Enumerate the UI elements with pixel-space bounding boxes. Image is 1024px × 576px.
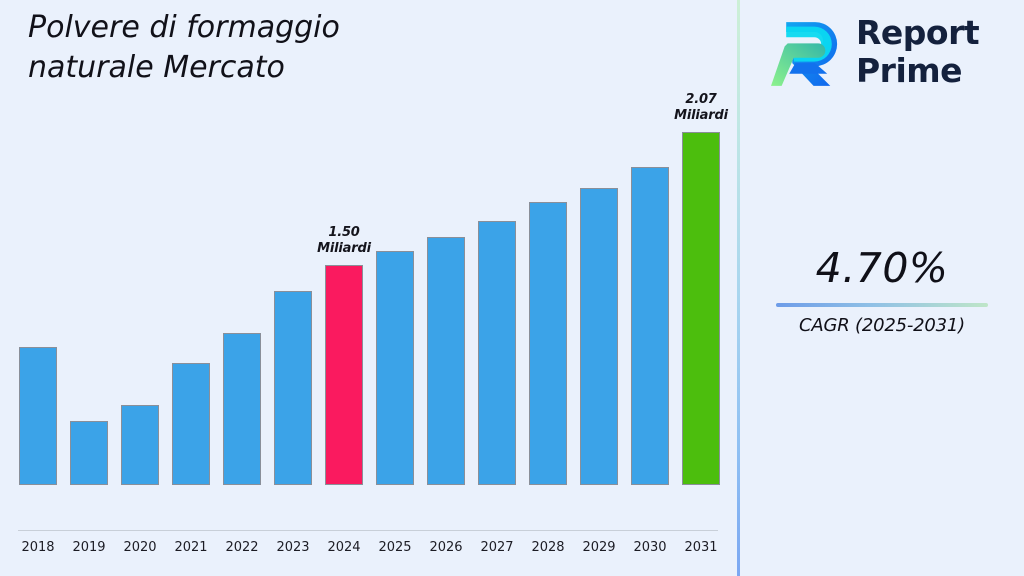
- bar-2027[interactable]: [478, 221, 516, 485]
- side-panel: Report Prime 4.70% CAGR (2025-2031): [740, 0, 1024, 576]
- x-tick-2018: 2018: [13, 540, 63, 555]
- x-tick-2019: 2019: [64, 540, 114, 555]
- bar-chart-plot: 1.50 Miliardi2.07 Miliardi: [0, 0, 738, 531]
- bar-2030[interactable]: [631, 167, 669, 485]
- report-prime-logo-icon: [770, 16, 848, 92]
- bar-value-label-2031: 2.07 Miliardi: [651, 92, 751, 125]
- brand-logo[interactable]: Report Prime: [770, 12, 1020, 98]
- x-tick-2029: 2029: [574, 540, 624, 555]
- x-tick-2023: 2023: [268, 540, 318, 555]
- cagr-label: CAGR (2025-2031): [740, 315, 1024, 336]
- bar-2025[interactable]: [376, 251, 414, 485]
- x-tick-2021: 2021: [166, 540, 216, 555]
- chart-panel: Polvere di formaggio naturale Mercato 1.…: [0, 0, 738, 576]
- bar-2019[interactable]: [70, 421, 108, 485]
- bar-2029[interactable]: [580, 188, 618, 485]
- bar-2022[interactable]: [223, 333, 261, 485]
- bar-2023[interactable]: [274, 291, 312, 485]
- x-tick-2026: 2026: [421, 540, 471, 555]
- brand-name: Report Prime: [856, 14, 979, 91]
- x-tick-2030: 2030: [625, 540, 675, 555]
- x-tick-2020: 2020: [115, 540, 165, 555]
- bar-2021[interactable]: [172, 363, 210, 485]
- bar-2020[interactable]: [121, 405, 159, 485]
- x-tick-2027: 2027: [472, 540, 522, 555]
- cagr-divider-rule: [776, 303, 988, 307]
- x-tick-2022: 2022: [217, 540, 267, 555]
- cagr-block: 4.70% CAGR (2025-2031): [740, 248, 1024, 336]
- x-tick-2028: 2028: [523, 540, 573, 555]
- infographic-root: Polvere di formaggio naturale Mercato 1.…: [0, 0, 1024, 576]
- bar-2026[interactable]: [427, 237, 465, 485]
- bar-2031[interactable]: [682, 132, 720, 485]
- bar-2024[interactable]: [325, 265, 363, 485]
- bar-2028[interactable]: [529, 202, 567, 485]
- x-tick-2025: 2025: [370, 540, 420, 555]
- x-tick-2031: 2031: [676, 540, 726, 555]
- x-tick-2024: 2024: [319, 540, 369, 555]
- cagr-value: 4.70%: [740, 248, 1024, 289]
- x-axis-line: [18, 530, 718, 531]
- bar-2018[interactable]: [19, 347, 57, 485]
